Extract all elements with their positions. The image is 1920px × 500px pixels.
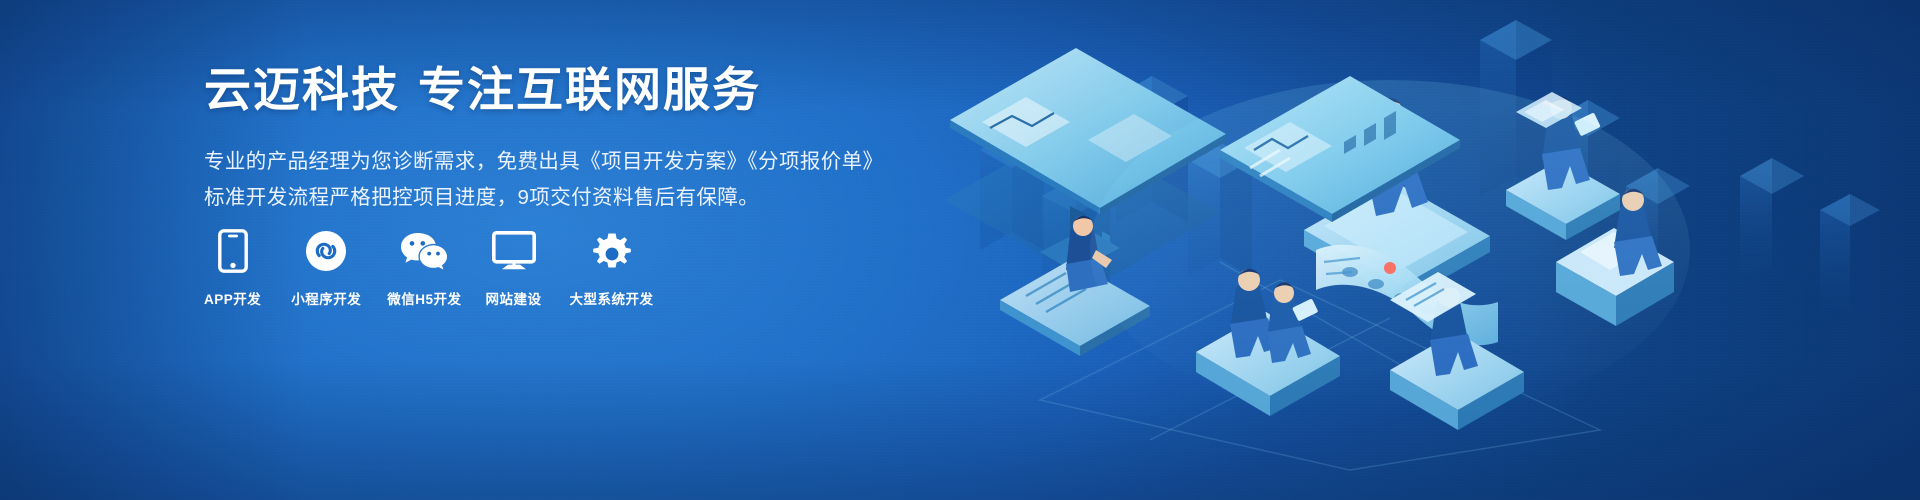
service-item-large-system[interactable]: 大型系统开发 [570,228,654,308]
mobile-phone-icon-box [218,228,248,274]
service-label-miniprogram: 小程序开发 [291,288,361,308]
title-tagline: 专注互联网服务 [418,63,761,116]
isometric-illustration [920,0,1920,500]
monitor-icon-box [492,228,536,274]
mini-program-icon [305,230,347,272]
wechat-icon-box [400,228,448,274]
mini-program-icon-box [305,228,347,274]
mobile-phone-icon [218,229,248,273]
service-label-website: 网站建设 [486,288,542,308]
banner-content: 云迈科技专注互联网服务 专业的产品经理为您诊断需求，免费出具《项目开发方案》《分… [204,62,904,216]
wechat-icon [400,231,448,271]
service-item-miniprogram[interactable]: 小程序开发 [291,228,361,308]
service-label-app: APP开发 [204,288,261,308]
promo-banner: 云迈科技专注互联网服务 专业的产品经理为您诊断需求，免费出具《项目开发方案》《分… [0,0,1920,500]
service-label-large-system: 大型系统开发 [570,288,654,308]
gear-icon-box [591,228,633,274]
service-item-app[interactable]: APP开发 [204,228,261,308]
gear-icon [591,230,633,272]
subtitle-line-1: 专业的产品经理为您诊断需求，免费出具《项目开发方案》《分项报价单》 [204,144,904,180]
service-label-wechat-h5: 微信H5开发 [387,288,461,308]
service-item-website[interactable]: 网站建设 [486,228,542,308]
service-icon-list: APP开发 小程序开发 [204,228,654,308]
monitor-icon [492,231,536,271]
title-brand: 云迈科技 [204,63,400,116]
page-title: 云迈科技专注互联网服务 [204,62,904,118]
subtitle-line-2: 标准开发流程严格把控项目进度，9项交付资料售后有保障。 [204,180,904,216]
service-item-wechat-h5[interactable]: 微信H5开发 [387,228,461,308]
